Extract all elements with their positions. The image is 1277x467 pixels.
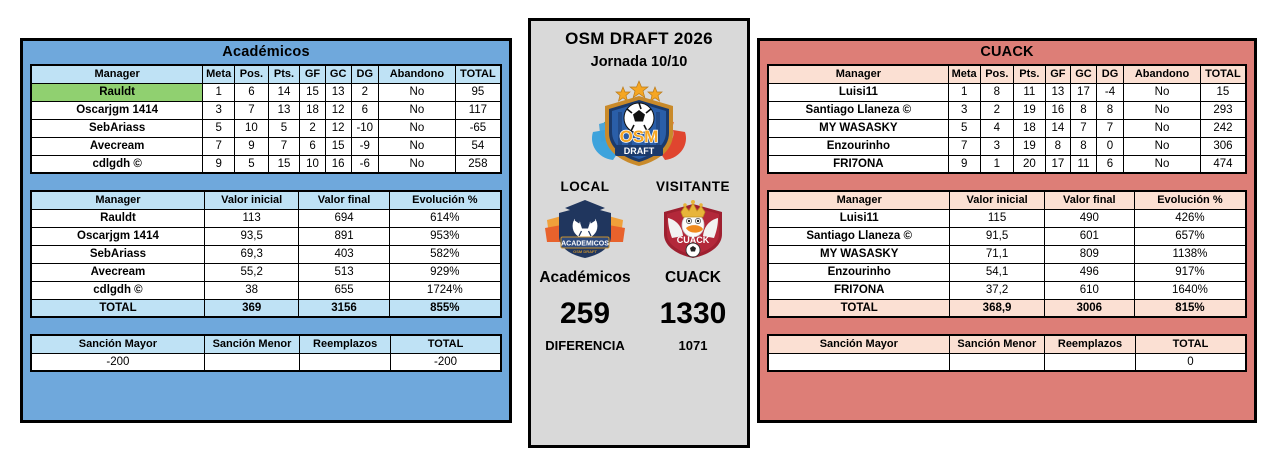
stat-cell-gf: 16 [1045, 101, 1071, 119]
table-header-row: ManagerMetaPos.Pts.GFGCDGAbandonoTOTAL [768, 65, 1246, 83]
value-cell-final: 655 [299, 281, 389, 299]
stat-cell-pts: 18 [1014, 119, 1045, 137]
value-cell-evolucion: 1138% [1134, 245, 1246, 263]
column-header: Pts. [1014, 65, 1045, 83]
stat-cell-total: 54 [455, 137, 501, 155]
sanction-cell-menor [204, 353, 299, 371]
sanction-cell-total: 0 [1135, 353, 1246, 371]
sanction-cell-reemplazos [300, 353, 391, 371]
visitor-stats-table-wrap: ManagerMetaPos.Pts.GFGCDGAbandonoTOTAL L… [760, 64, 1254, 174]
stat-cell-dg: -9 [351, 137, 379, 155]
value-cell-final: 610 [1044, 281, 1134, 299]
value-cell-final: 694 [299, 209, 389, 227]
value-cell-evolucion: 426% [1134, 209, 1246, 227]
manager-name-cell: SebAriass [31, 119, 203, 137]
table-row: cdlgdh ©386551724% [31, 281, 501, 299]
table-row: Avecream797615-9No54 [31, 137, 501, 155]
visitor-team-title: CUACK [760, 41, 1254, 64]
column-header: Evolución % [1134, 191, 1246, 209]
value-cell-final: 403 [299, 245, 389, 263]
value-cell-final: 601 [1044, 227, 1134, 245]
stat-cell-gf: 15 [300, 83, 326, 101]
local-team-name: Académicos [539, 269, 630, 287]
stat-cell-pos: 4 [980, 119, 1014, 137]
svg-text:OSM DRAFT: OSM DRAFT [573, 249, 597, 254]
stat-cell-pos: 7 [235, 101, 269, 119]
column-header: Pts. [268, 65, 300, 83]
column-header: TOTAL [455, 65, 501, 83]
column-header: TOTAL [1135, 335, 1246, 353]
stat-cell-total: -65 [455, 119, 501, 137]
column-header: DG [1096, 65, 1123, 83]
value-cell-evolucion: 614% [389, 209, 501, 227]
table-header-row: ManagerValor inicialValor finalEvolución… [768, 191, 1246, 209]
svg-text:OSM: OSM [620, 127, 659, 146]
svg-text:ACADEMICOS: ACADEMICOS [561, 241, 609, 248]
table-header-row: Sanción MayorSanción MenorReemplazosTOTA… [31, 335, 501, 353]
manager-name-cell: FRI7ONA [768, 281, 950, 299]
table-row: Luisi1118111317-4No15 [768, 83, 1246, 101]
manager-name-cell: Enzourinho [768, 263, 950, 281]
manager-name-cell: Oscarjgm 1414 [31, 101, 203, 119]
stat-cell-pos: 5 [235, 155, 269, 173]
stat-cell-dg: 0 [1096, 137, 1123, 155]
value-cell-evolucion: 917% [1134, 263, 1246, 281]
column-header: Meta [203, 65, 235, 83]
column-header: Sanción Mayor [768, 335, 949, 353]
stat-cell-gc: 12 [325, 101, 351, 119]
stat-cell-pts: 13 [268, 101, 300, 119]
table-row: Luisi11115490426% [768, 209, 1246, 227]
value-cell-final: 513 [299, 263, 389, 281]
visitor-value-table-wrap: ManagerValor inicialValor finalEvolución… [760, 190, 1254, 318]
stat-cell-meta: 3 [948, 101, 980, 119]
draft-title: OSM DRAFT 2026 [565, 29, 713, 49]
table-header-row: ManagerValor inicialValor finalEvolución… [31, 191, 501, 209]
value-cell-inicial: 37,2 [950, 281, 1044, 299]
value-cell-evolucion: 1640% [1134, 281, 1246, 299]
column-header: GF [1045, 65, 1071, 83]
manager-name-cell: SebAriass [31, 245, 204, 263]
column-header: Sanción Mayor [31, 335, 204, 353]
manager-name-cell: Rauldt [31, 209, 204, 227]
stat-cell-pos: 9 [235, 137, 269, 155]
column-header: Valor inicial [950, 191, 1044, 209]
stat-cell-dg: 8 [1096, 101, 1123, 119]
stat-cell-pos: 10 [235, 119, 269, 137]
stat-cell-pos: 3 [980, 137, 1014, 155]
column-header: GC [325, 65, 351, 83]
table-row: Enzourinho7319880No306 [768, 137, 1246, 155]
total-cell-evolucion: 855% [389, 299, 501, 317]
column-header: Abandono [379, 65, 456, 83]
match-center-panel: OSM DRAFT 2026 Jornada 10/10 [528, 18, 750, 448]
column-header: TOTAL [391, 335, 501, 353]
stat-cell-dg: 6 [1096, 155, 1123, 173]
visitor-team-block: VISITANTE [639, 179, 747, 287]
stat-cell-gf: 6 [300, 137, 326, 155]
column-header: Sanción Menor [204, 335, 299, 353]
stat-cell-abandono: No [379, 119, 456, 137]
manager-name-cell: MY WASASKY [768, 119, 948, 137]
column-header: GF [300, 65, 326, 83]
stat-cell-gc: 12 [325, 119, 351, 137]
value-cell-final: 891 [299, 227, 389, 245]
stat-cell-abandono: No [1124, 83, 1201, 101]
manager-name-cell: Luisi11 [768, 209, 950, 227]
column-header: GC [1071, 65, 1097, 83]
manager-name-cell: Avecream [31, 137, 203, 155]
visitor-sanction-table-wrap: Sanción MayorSanción MenorReemplazosTOTA… [760, 334, 1254, 372]
column-header: Manager [768, 65, 948, 83]
stat-cell-abandono: No [1124, 137, 1201, 155]
stat-cell-total: 117 [455, 101, 501, 119]
visitor-score: 1330 [639, 297, 747, 331]
value-cell-inicial: 38 [204, 281, 298, 299]
value-cell-evolucion: 657% [1134, 227, 1246, 245]
sanction-cell-menor [949, 353, 1044, 371]
table-total-row: TOTAL368,93006815% [768, 299, 1246, 317]
local-side-label: LOCAL [561, 179, 610, 194]
column-header: Manager [768, 191, 950, 209]
stat-cell-total: 15 [1200, 83, 1246, 101]
manager-name-cell: Luisi11 [768, 83, 948, 101]
local-team-title: Académicos [23, 41, 509, 64]
stat-cell-gc: 11 [1071, 155, 1097, 173]
table-row: Avecream55,2513929% [31, 263, 501, 281]
table-row: 0 [768, 353, 1246, 371]
stat-cell-dg: 6 [351, 101, 379, 119]
stat-cell-pts: 11 [1014, 83, 1045, 101]
value-cell-final: 809 [1044, 245, 1134, 263]
stat-cell-pts: 15 [268, 155, 300, 173]
spacer [760, 174, 1254, 190]
visitor-stats-table: ManagerMetaPos.Pts.GFGCDGAbandonoTOTAL L… [767, 64, 1247, 174]
score-row: 259 1330 [531, 297, 747, 331]
local-team-block: LOCAL [531, 179, 639, 287]
stat-cell-pts: 19 [1014, 101, 1045, 119]
column-header: TOTAL [1200, 65, 1246, 83]
column-header: DG [351, 65, 379, 83]
value-cell-evolucion: 929% [389, 263, 501, 281]
stat-cell-pos: 1 [980, 155, 1014, 173]
stat-cell-gf: 17 [1045, 155, 1071, 173]
manager-name-cell: Enzourinho [768, 137, 948, 155]
stat-cell-dg: -4 [1096, 83, 1123, 101]
stat-cell-total: 258 [455, 155, 501, 173]
total-cell-inicial: 369 [204, 299, 298, 317]
value-cell-inicial: 115 [950, 209, 1044, 227]
stat-cell-pts: 20 [1014, 155, 1045, 173]
difference-row: DIFERENCIA 1071 [531, 338, 747, 353]
local-score: 259 [531, 297, 639, 331]
total-cell-final: 3006 [1044, 299, 1134, 317]
teams-row: LOCAL [531, 179, 747, 287]
stat-cell-dg: 2 [351, 83, 379, 101]
stat-cell-abandono: No [1124, 119, 1201, 137]
spacer [23, 174, 509, 190]
column-header: Reemplazos [300, 335, 391, 353]
visitor-side-label: VISITANTE [656, 179, 730, 194]
stat-cell-gc: 16 [325, 155, 351, 173]
stat-cell-abandono: No [379, 137, 456, 155]
column-header: Reemplazos [1045, 335, 1136, 353]
stat-cell-meta: 9 [948, 155, 980, 173]
manager-name-cell: Santiago Llaneza © [768, 101, 948, 119]
stat-cell-pos: 8 [980, 83, 1014, 101]
spacer [23, 318, 509, 334]
stat-cell-dg: 7 [1096, 119, 1123, 137]
table-row: MY WASASKY71,18091138% [768, 245, 1246, 263]
column-header: Meta [948, 65, 980, 83]
sanction-cell-total: -200 [391, 353, 501, 371]
stat-cell-dg: -10 [351, 119, 379, 137]
stat-cell-total: 306 [1200, 137, 1246, 155]
stat-cell-total: 95 [455, 83, 501, 101]
stat-cell-abandono: No [1124, 155, 1201, 173]
stat-cell-meta: 9 [203, 155, 235, 173]
total-cell-final: 3156 [299, 299, 389, 317]
manager-name-cell: Avecream [31, 263, 204, 281]
value-cell-final: 496 [1044, 263, 1134, 281]
table-row: FRI7ONA37,26101640% [768, 281, 1246, 299]
visitor-value-table: ManagerValor inicialValor finalEvolución… [767, 190, 1247, 318]
manager-name-cell: Oscarjgm 1414 [31, 227, 204, 245]
value-cell-evolucion: 582% [389, 245, 501, 263]
spacer [760, 318, 1254, 334]
manager-name-cell: cdlgdh © [31, 155, 203, 173]
total-cell-inicial: 368,9 [950, 299, 1044, 317]
total-cell-manager: TOTAL [768, 299, 950, 317]
table-row: Rauldt161415132No95 [31, 83, 501, 101]
column-header: Valor final [299, 191, 389, 209]
table-row: -200-200 [31, 353, 501, 371]
sanction-cell-mayor: -200 [31, 353, 204, 371]
stat-cell-pts: 19 [1014, 137, 1045, 155]
visitor-team-name: CUACK [665, 269, 721, 287]
stat-cell-abandono: No [379, 101, 456, 119]
table-header-row: ManagerMetaPos.Pts.GFGCDGAbandonoTOTAL [31, 65, 501, 83]
value-cell-inicial: 91,5 [950, 227, 1044, 245]
local-value-table: ManagerValor inicialValor finalEvolución… [30, 190, 502, 318]
column-header: Pos. [235, 65, 269, 83]
value-cell-inicial: 69,3 [204, 245, 298, 263]
value-cell-final: 490 [1044, 209, 1134, 227]
column-header: Sanción Menor [949, 335, 1044, 353]
local-sanction-table-wrap: Sanción MayorSanción MenorReemplazosTOTA… [23, 334, 509, 372]
stat-cell-gf: 2 [300, 119, 326, 137]
column-header: Abandono [1124, 65, 1201, 83]
difference-label: DIFERENCIA [531, 338, 639, 353]
stat-cell-abandono: No [379, 83, 456, 101]
column-header: Valor inicial [204, 191, 298, 209]
table-row: SebAriass5105212-10No-65 [31, 119, 501, 137]
stat-cell-gf: 8 [1045, 137, 1071, 155]
column-header: Manager [31, 191, 204, 209]
value-cell-evolucion: 1724% [389, 281, 501, 299]
stat-cell-gc: 17 [1071, 83, 1097, 101]
total-cell-manager: TOTAL [31, 299, 204, 317]
osm-draft-shield-logo-icon: OSM DRAFT [587, 76, 691, 173]
stat-cell-pos: 6 [235, 83, 269, 101]
stat-cell-gf: 13 [1045, 83, 1071, 101]
local-value-table-wrap: ManagerValor inicialValor finalEvolución… [23, 190, 509, 318]
stat-cell-meta: 7 [203, 137, 235, 155]
stat-cell-gf: 14 [1045, 119, 1071, 137]
difference-value: 1071 [639, 338, 747, 353]
table-row: Santiago Llaneza ©32191688No293 [768, 101, 1246, 119]
table-row: Santiago Llaneza ©91,5601657% [768, 227, 1246, 245]
stat-cell-meta: 3 [203, 101, 235, 119]
stat-cell-gf: 10 [300, 155, 326, 173]
value-cell-evolucion: 953% [389, 227, 501, 245]
table-row: Oscarjgm 1414371318126No117 [31, 101, 501, 119]
local-sanction-table: Sanción MayorSanción MenorReemplazosTOTA… [30, 334, 502, 372]
table-header-row: Sanción MayorSanción MenorReemplazosTOTA… [768, 335, 1246, 353]
table-row: cdlgdh ©95151016-6No258 [31, 155, 501, 173]
stat-cell-gf: 18 [300, 101, 326, 119]
value-cell-inicial: 55,2 [204, 263, 298, 281]
stat-cell-abandono: No [1124, 101, 1201, 119]
sanction-cell-reemplazos [1045, 353, 1136, 371]
academicos-crest-icon: ACADEMICOS OSM DRAFT [543, 198, 627, 265]
stat-cell-abandono: No [379, 155, 456, 173]
table-row: Oscarjgm 141493,5891953% [31, 227, 501, 245]
stat-cell-total: 293 [1200, 101, 1246, 119]
manager-name-cell: FRI7ONA [768, 155, 948, 173]
manager-name-cell: Rauldt [31, 83, 203, 101]
stat-cell-meta: 5 [948, 119, 980, 137]
table-row: Rauldt113694614% [31, 209, 501, 227]
stat-cell-total: 474 [1200, 155, 1246, 173]
stat-cell-gc: 13 [325, 83, 351, 101]
stat-cell-meta: 5 [203, 119, 235, 137]
column-header: Evolución % [389, 191, 501, 209]
table-row: Enzourinho54,1496917% [768, 263, 1246, 281]
table-row: MY WASASKY54181477No242 [768, 119, 1246, 137]
stat-cell-gc: 7 [1071, 119, 1097, 137]
total-cell-evolucion: 815% [1134, 299, 1246, 317]
local-team-panel: Académicos ManagerMetaPos.Pts.GFGCDGAban… [20, 38, 512, 423]
column-header: Valor final [1044, 191, 1134, 209]
stat-cell-gc: 15 [325, 137, 351, 155]
stat-cell-pts: 7 [268, 137, 300, 155]
manager-name-cell: cdlgdh © [31, 281, 204, 299]
column-header: Manager [31, 65, 203, 83]
visitor-team-panel: CUACK ManagerMetaPos.Pts.GFGCDGAbandonoT… [757, 38, 1257, 423]
local-stats-table-wrap: ManagerMetaPos.Pts.GFGCDGAbandonoTOTAL R… [23, 64, 509, 174]
table-total-row: TOTAL3693156855% [31, 299, 501, 317]
cuack-duck-crest-icon: CUACK [656, 198, 730, 265]
stat-cell-gc: 8 [1071, 137, 1097, 155]
stat-cell-total: 242 [1200, 119, 1246, 137]
visitor-sanction-table: Sanción MayorSanción MenorReemplazosTOTA… [767, 334, 1247, 372]
sanction-cell-mayor [768, 353, 949, 371]
stat-cell-meta: 1 [948, 83, 980, 101]
stat-cell-gc: 8 [1071, 101, 1097, 119]
stat-cell-dg: -6 [351, 155, 379, 173]
stat-cell-pts: 14 [268, 83, 300, 101]
table-row: FRI7ONA912017116No474 [768, 155, 1246, 173]
draft-matchday: Jornada 10/10 [591, 54, 688, 70]
value-cell-inicial: 113 [204, 209, 298, 227]
stat-cell-meta: 1 [203, 83, 235, 101]
manager-name-cell: Santiago Llaneza © [768, 227, 950, 245]
stat-cell-pos: 2 [980, 101, 1014, 119]
table-row: SebAriass69,3403582% [31, 245, 501, 263]
local-stats-table: ManagerMetaPos.Pts.GFGCDGAbandonoTOTAL R… [30, 64, 502, 174]
stat-cell-pts: 5 [268, 119, 300, 137]
value-cell-inicial: 54,1 [950, 263, 1044, 281]
value-cell-inicial: 71,1 [950, 245, 1044, 263]
manager-name-cell: MY WASASKY [768, 245, 950, 263]
stat-cell-meta: 7 [948, 137, 980, 155]
column-header: Pos. [980, 65, 1014, 83]
value-cell-inicial: 93,5 [204, 227, 298, 245]
svg-text:DRAFT: DRAFT [624, 146, 655, 156]
